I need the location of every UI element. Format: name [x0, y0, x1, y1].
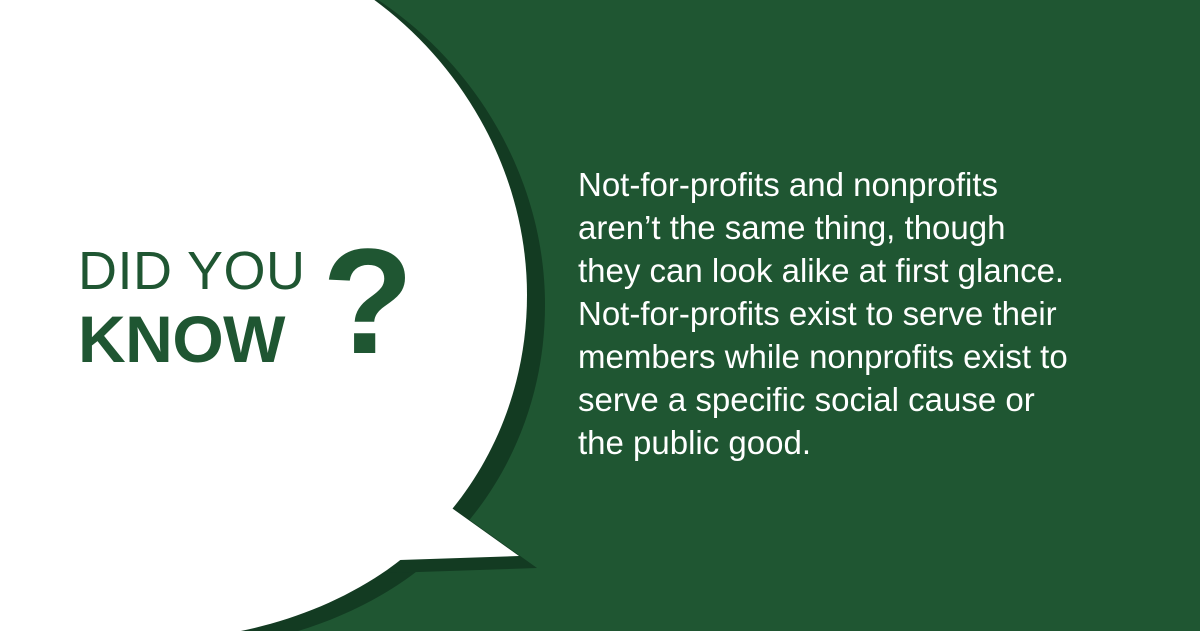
body-line: Not-for-profits exist to serve their	[578, 292, 1158, 335]
body-paragraph: Not-for-profits and nonprofits aren’t th…	[578, 163, 1158, 464]
body-line: serve a specific social cause or	[578, 378, 1158, 421]
body-line: Not-for-profits and nonprofits	[578, 163, 1158, 206]
question-mark-glyph: ?	[322, 226, 414, 376]
body-line: the public good.	[578, 421, 1158, 464]
body-line: they can look alike at first glance.	[578, 249, 1158, 292]
heading-line-know: KNOW	[78, 306, 285, 372]
infographic-canvas: DID YOU KNOW ? Not-for-profits and nonpr…	[0, 0, 1200, 631]
heading-block: DID YOU KNOW ?	[78, 244, 458, 394]
heading-line-did-you: DID YOU	[78, 244, 306, 298]
body-line: aren’t the same thing, though	[578, 206, 1158, 249]
body-line: members while nonprofits exist to	[578, 335, 1158, 378]
